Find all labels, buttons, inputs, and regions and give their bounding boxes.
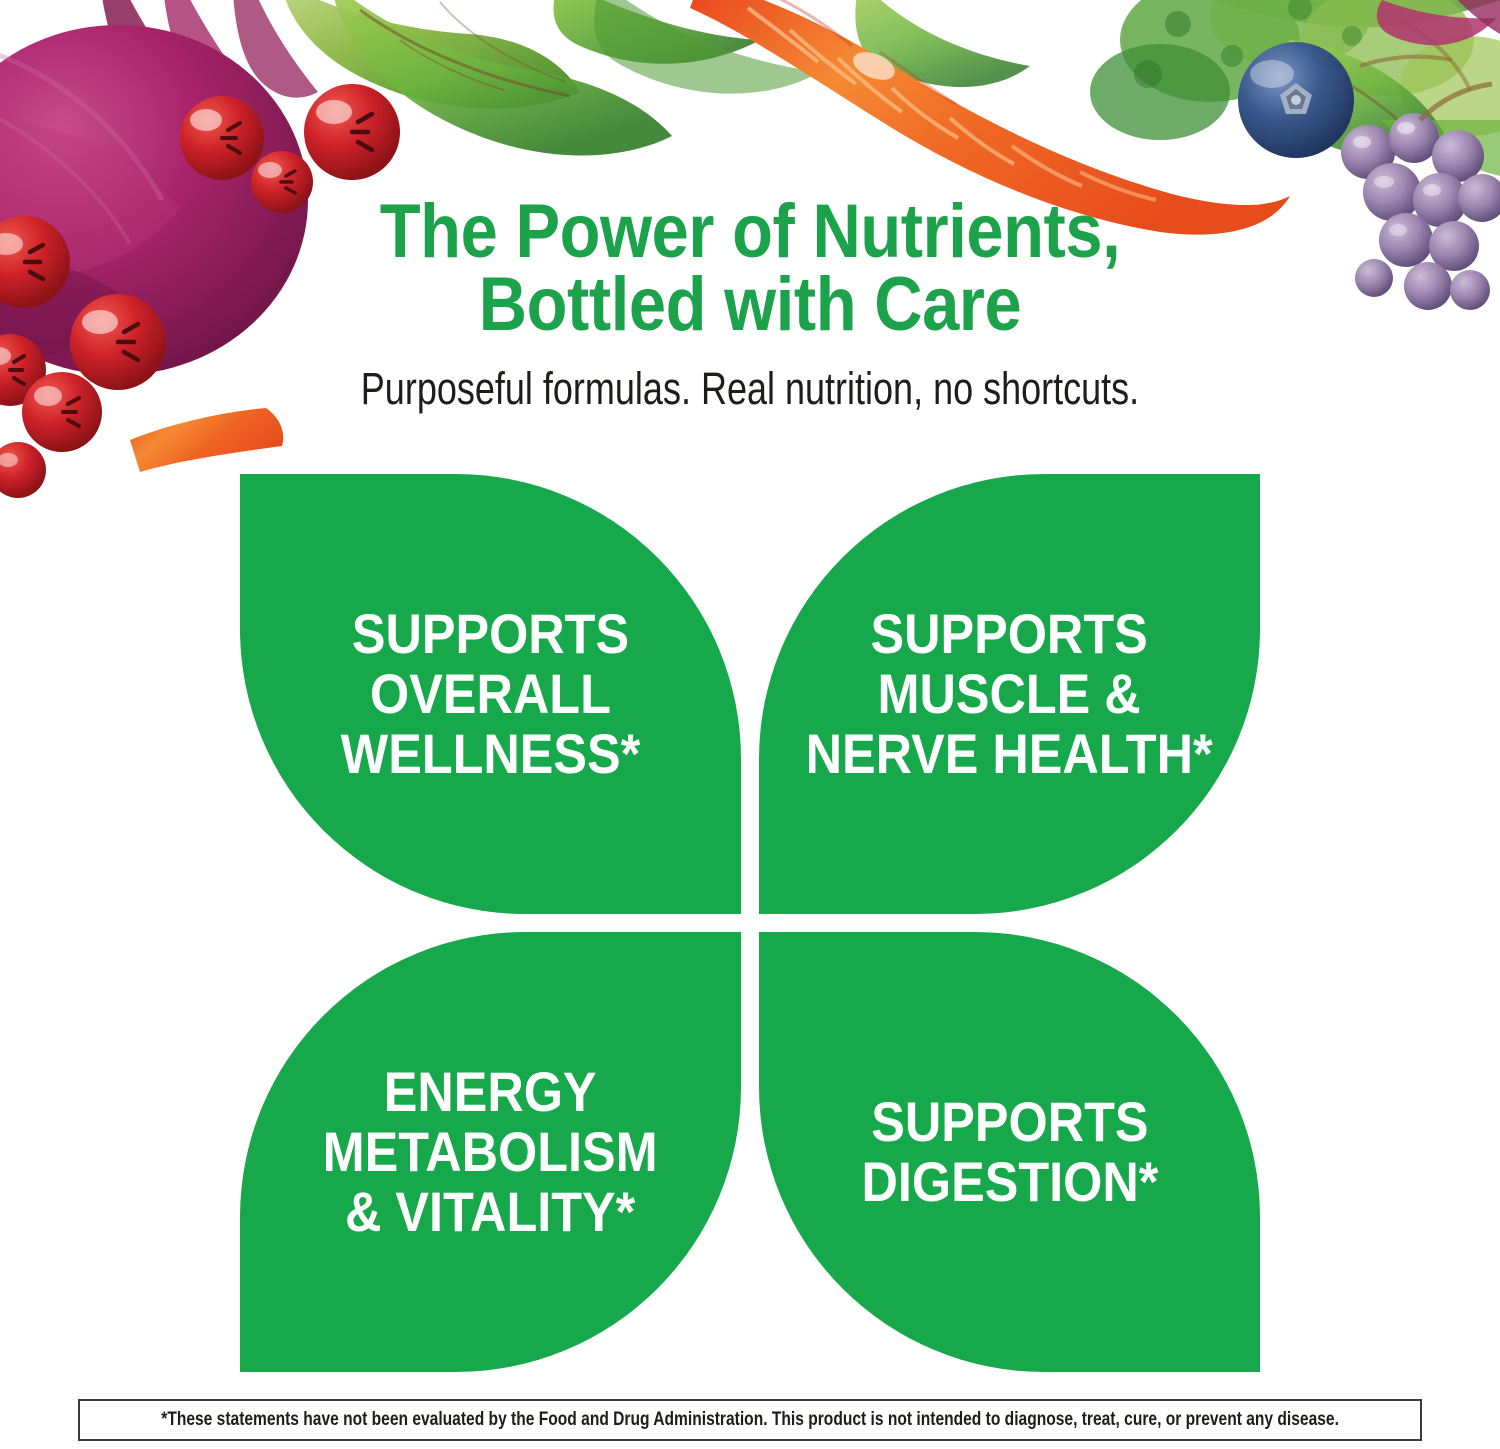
kale-leaf-illustration: [1270, 40, 1500, 176]
benefit-card-digestion[interactable]: SUPPORTS DIGESTION*: [759, 932, 1260, 1372]
benefit-card-label: SUPPORTS DIGESTION*: [861, 1092, 1158, 1212]
kale-leaf-illustration: [553, 0, 1030, 94]
page-title: The Power of Nutrients, Bottled with Car…: [90, 196, 1410, 342]
benefit-card-overall-wellness[interactable]: SUPPORTS OVERALL WELLNESS*: [240, 474, 741, 914]
broccoli-illustration: [1090, 0, 1500, 140]
benefit-card-muscle-nerve-health[interactable]: SUPPORTS MUSCLE & NERVE HEALTH*: [759, 474, 1260, 914]
promotional-graphic: The Power of Nutrients, Bottled with Car…: [0, 0, 1500, 1449]
benefit-card-label: SUPPORTS OVERALL WELLNESS*: [341, 604, 641, 784]
disclaimer-box: *These statements have not been evaluate…: [78, 1399, 1422, 1441]
disclaimer-text: *These statements have not been evaluate…: [161, 1409, 1339, 1431]
beet-greens-illustration: [100, 0, 672, 156]
blueberry-illustration: [1238, 42, 1354, 158]
benefit-grid: SUPPORTS OVERALL WELLNESS* SUPPORTS MUSC…: [240, 474, 1260, 1372]
beet-greens-illustration: [1377, 0, 1500, 45]
headline-block: The Power of Nutrients, Bottled with Car…: [0, 196, 1500, 411]
benefit-card-energy-metabolism[interactable]: ENERGY METABOLISM & VITALITY*: [240, 932, 741, 1372]
page-subtitle: Purposeful formulas. Real nutrition, no …: [150, 366, 1350, 411]
benefit-card-label: SUPPORTS MUSCLE & NERVE HEALTH*: [806, 604, 1213, 784]
benefit-card-label: ENERGY METABOLISM & VITALITY*: [323, 1062, 658, 1242]
